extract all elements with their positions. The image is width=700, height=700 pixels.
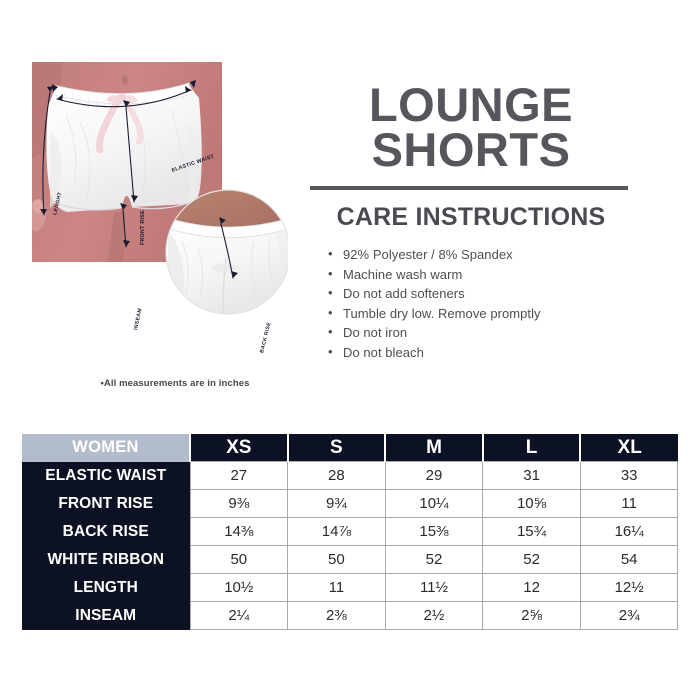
list-item: Do not bleach	[328, 343, 632, 363]
cell-elastic-waist-xs: 27	[190, 462, 288, 490]
measurements-note: •All measurements are in inches	[60, 378, 290, 389]
cell-inseam-m: 2½	[385, 602, 483, 630]
cell-inseam-xs: 2¼	[190, 602, 288, 630]
size-chart-table-wrapper: WOMEN XS S M L XL ELASTIC WAIST 27 28 29…	[22, 434, 678, 630]
cell-elastic-waist-xl: 33	[580, 462, 678, 490]
row-label-front-rise: FRONT RISE	[22, 490, 190, 518]
list-item: Tumble dry low. Remove promptly	[328, 304, 632, 324]
dimension-label-front-rise: FRONT RISE	[140, 210, 146, 245]
row-label-back-rise: BACK RISE	[22, 518, 190, 546]
cell-back-rise-m: 15⅜	[385, 518, 483, 546]
cell-elastic-waist-l: 31	[483, 462, 581, 490]
cell-length-l: 12	[483, 574, 581, 602]
list-item: Do not add softeners	[328, 284, 632, 304]
title-line-2: SHORTS	[310, 127, 632, 172]
size-chart-table: WOMEN XS S M L XL ELASTIC WAIST 27 28 29…	[22, 434, 678, 630]
cell-length-s: 11	[288, 574, 386, 602]
table-row: INSEAM 2¼ 2⅜ 2½ 2⅝ 2¾	[22, 602, 678, 630]
cell-white-ribbon-xs: 50	[190, 546, 288, 574]
cell-front-rise-xs: 9⅜	[190, 490, 288, 518]
cell-white-ribbon-xl: 54	[580, 546, 678, 574]
list-item: Do not iron	[328, 323, 632, 343]
row-label-white-ribbon: WHITE RIBBON	[22, 546, 190, 574]
table-row: ELASTIC WAIST 27 28 29 31 33	[22, 462, 678, 490]
cell-back-rise-s: 14⅞	[288, 518, 386, 546]
care-instructions-heading: CARE INSTRUCTIONS	[310, 203, 632, 232]
title-divider	[310, 186, 628, 190]
care-instructions-list: 92% Polyester / 8% Spandex Machine wash …	[328, 245, 632, 362]
table-header-women: WOMEN	[22, 434, 190, 462]
cell-length-xl: 12½	[580, 574, 678, 602]
product-photo-canvas	[22, 62, 288, 320]
cell-back-rise-l: 15¾	[483, 518, 581, 546]
title-line-1: LOUNGE	[310, 82, 632, 127]
cell-front-rise-l: 10⅝	[483, 490, 581, 518]
row-label-inseam: INSEAM	[22, 602, 190, 630]
cell-front-rise-s: 9¾	[288, 490, 386, 518]
cell-back-rise-xl: 16¼	[580, 518, 678, 546]
table-header-xl: XL	[580, 434, 678, 462]
list-item: 92% Polyester / 8% Spandex	[328, 245, 632, 265]
cell-front-rise-xl: 11	[580, 490, 678, 518]
cell-length-xs: 10½	[190, 574, 288, 602]
page-title: LOUNGE SHORTS	[310, 82, 632, 172]
cell-inseam-l: 2⅝	[483, 602, 581, 630]
cell-white-ribbon-s: 50	[288, 546, 386, 574]
cell-white-ribbon-l: 52	[483, 546, 581, 574]
cell-white-ribbon-m: 52	[385, 546, 483, 574]
table-header-s: S	[288, 434, 386, 462]
table-row: LENGTH 10½ 11 11½ 12 12½	[22, 574, 678, 602]
cell-inseam-xl: 2¾	[580, 602, 678, 630]
cell-front-rise-m: 10¼	[385, 490, 483, 518]
product-photo: ELASTIC WAIST LENGHT FRONT RISE INSEAM B…	[22, 62, 288, 320]
cell-elastic-waist-s: 28	[288, 462, 386, 490]
cell-back-rise-xs: 14⅜	[190, 518, 288, 546]
row-label-elastic-waist: ELASTIC WAIST	[22, 462, 190, 490]
list-item: Machine wash warm	[328, 265, 632, 285]
table-header-m: M	[385, 434, 483, 462]
header-section: ELASTIC WAIST LENGHT FRONT RISE INSEAM B…	[0, 0, 700, 412]
dimension-label-back-rise: BACK RISE	[259, 322, 272, 354]
cell-elastic-waist-m: 29	[385, 462, 483, 490]
cell-inseam-s: 2⅜	[288, 602, 386, 630]
row-label-length: LENGTH	[22, 574, 190, 602]
table-header-row: WOMEN XS S M L XL	[22, 434, 678, 462]
table-row: WHITE RIBBON 50 50 52 52 54	[22, 546, 678, 574]
cell-length-m: 11½	[385, 574, 483, 602]
table-header-xs: XS	[190, 434, 288, 462]
product-info: LOUNGE SHORTS CARE INSTRUCTIONS 92% Poly…	[310, 82, 632, 362]
table-row: BACK RISE 14⅜ 14⅞ 15⅜ 15¾ 16¼	[22, 518, 678, 546]
table-header-l: L	[483, 434, 581, 462]
table-row: FRONT RISE 9⅜ 9¾ 10¼ 10⅝ 11	[22, 490, 678, 518]
